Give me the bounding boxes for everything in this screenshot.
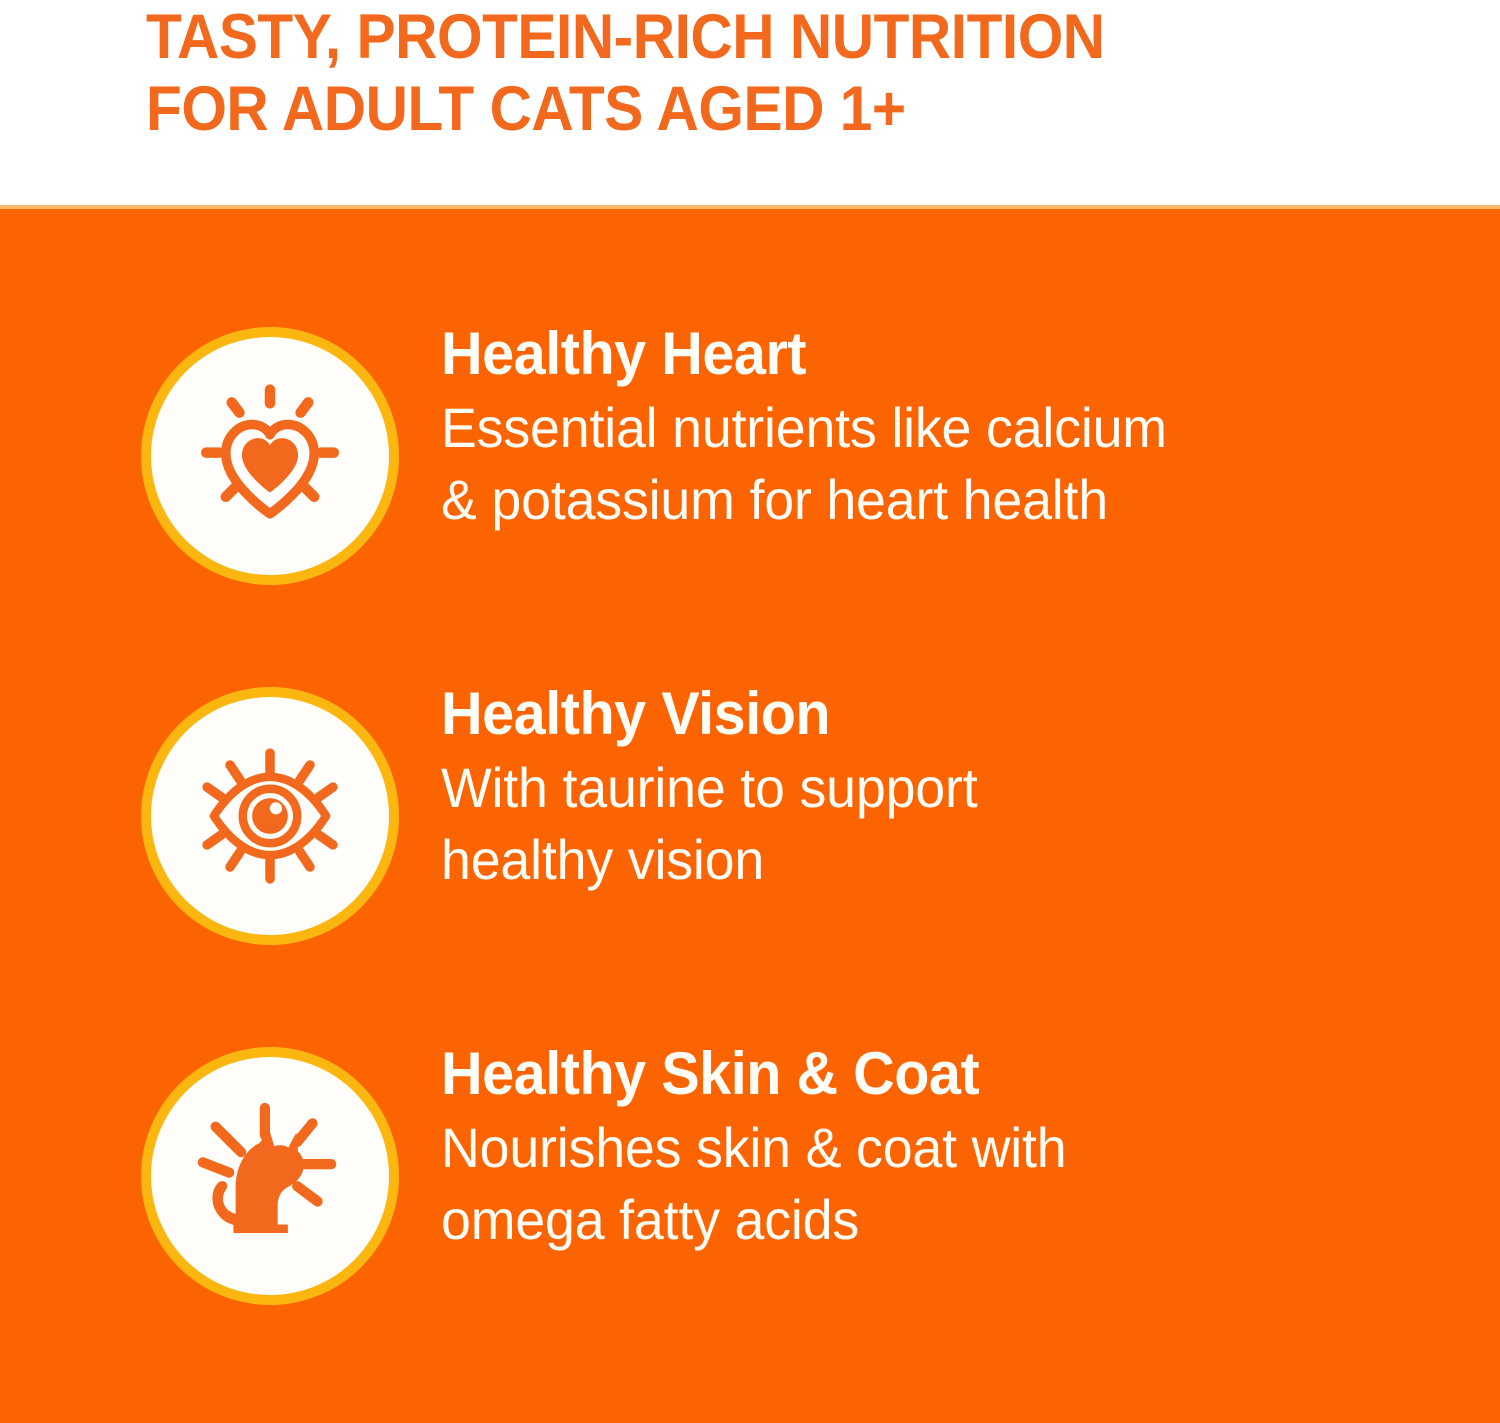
- benefit-description: Nourishes skin & coat with omega fatty a…: [441, 1112, 1382, 1258]
- benefit-title: Healthy Heart: [441, 322, 1382, 386]
- benefit-icon-badge: [141, 1047, 399, 1305]
- product-benefits-infographic: TASTY, PROTEIN-RICH NUTRITION FOR ADULT …: [0, 0, 1500, 1423]
- benefit-icon-badge: [141, 327, 399, 585]
- benefit-description: Essential nutrients like calcium & potas…: [441, 392, 1382, 538]
- page-title: TASTY, PROTEIN-RICH NUTRITION FOR ADULT …: [146, 2, 1346, 146]
- benefit-title: Healthy Vision: [441, 682, 1382, 746]
- icon-disc: [151, 1057, 389, 1295]
- benefit-row-healthy-heart: Healthy Heart Essential nutrients like c…: [0, 310, 1500, 640]
- benefit-description: With taurine to support healthy vision: [441, 752, 1382, 898]
- benefit-title: Healthy Skin & Coat: [441, 1042, 1382, 1106]
- benefit-icon-badge: [141, 687, 399, 945]
- benefit-text-block: Healthy Heart Essential nutrients like c…: [441, 322, 1421, 537]
- icon-disc: [151, 697, 389, 935]
- benefit-row-healthy-skin-coat: Healthy Skin & Coat Nourishes skin & coa…: [0, 1030, 1500, 1360]
- radiant-cat-icon: [185, 1091, 355, 1261]
- benefit-text-block: Healthy Skin & Coat Nourishes skin & coa…: [441, 1042, 1421, 1257]
- radiant-heart-icon: [185, 371, 355, 541]
- radiant-eye-icon: [185, 731, 355, 901]
- benefits-panel: Healthy Heart Essential nutrients like c…: [0, 205, 1500, 1423]
- benefit-row-healthy-vision: Healthy Vision With taurine to support h…: [0, 670, 1500, 1000]
- icon-disc: [151, 337, 389, 575]
- panel-top-divider: [0, 205, 1500, 209]
- benefit-text-block: Healthy Vision With taurine to support h…: [441, 682, 1421, 897]
- headline-band: TASTY, PROTEIN-RICH NUTRITION FOR ADULT …: [0, 0, 1500, 205]
